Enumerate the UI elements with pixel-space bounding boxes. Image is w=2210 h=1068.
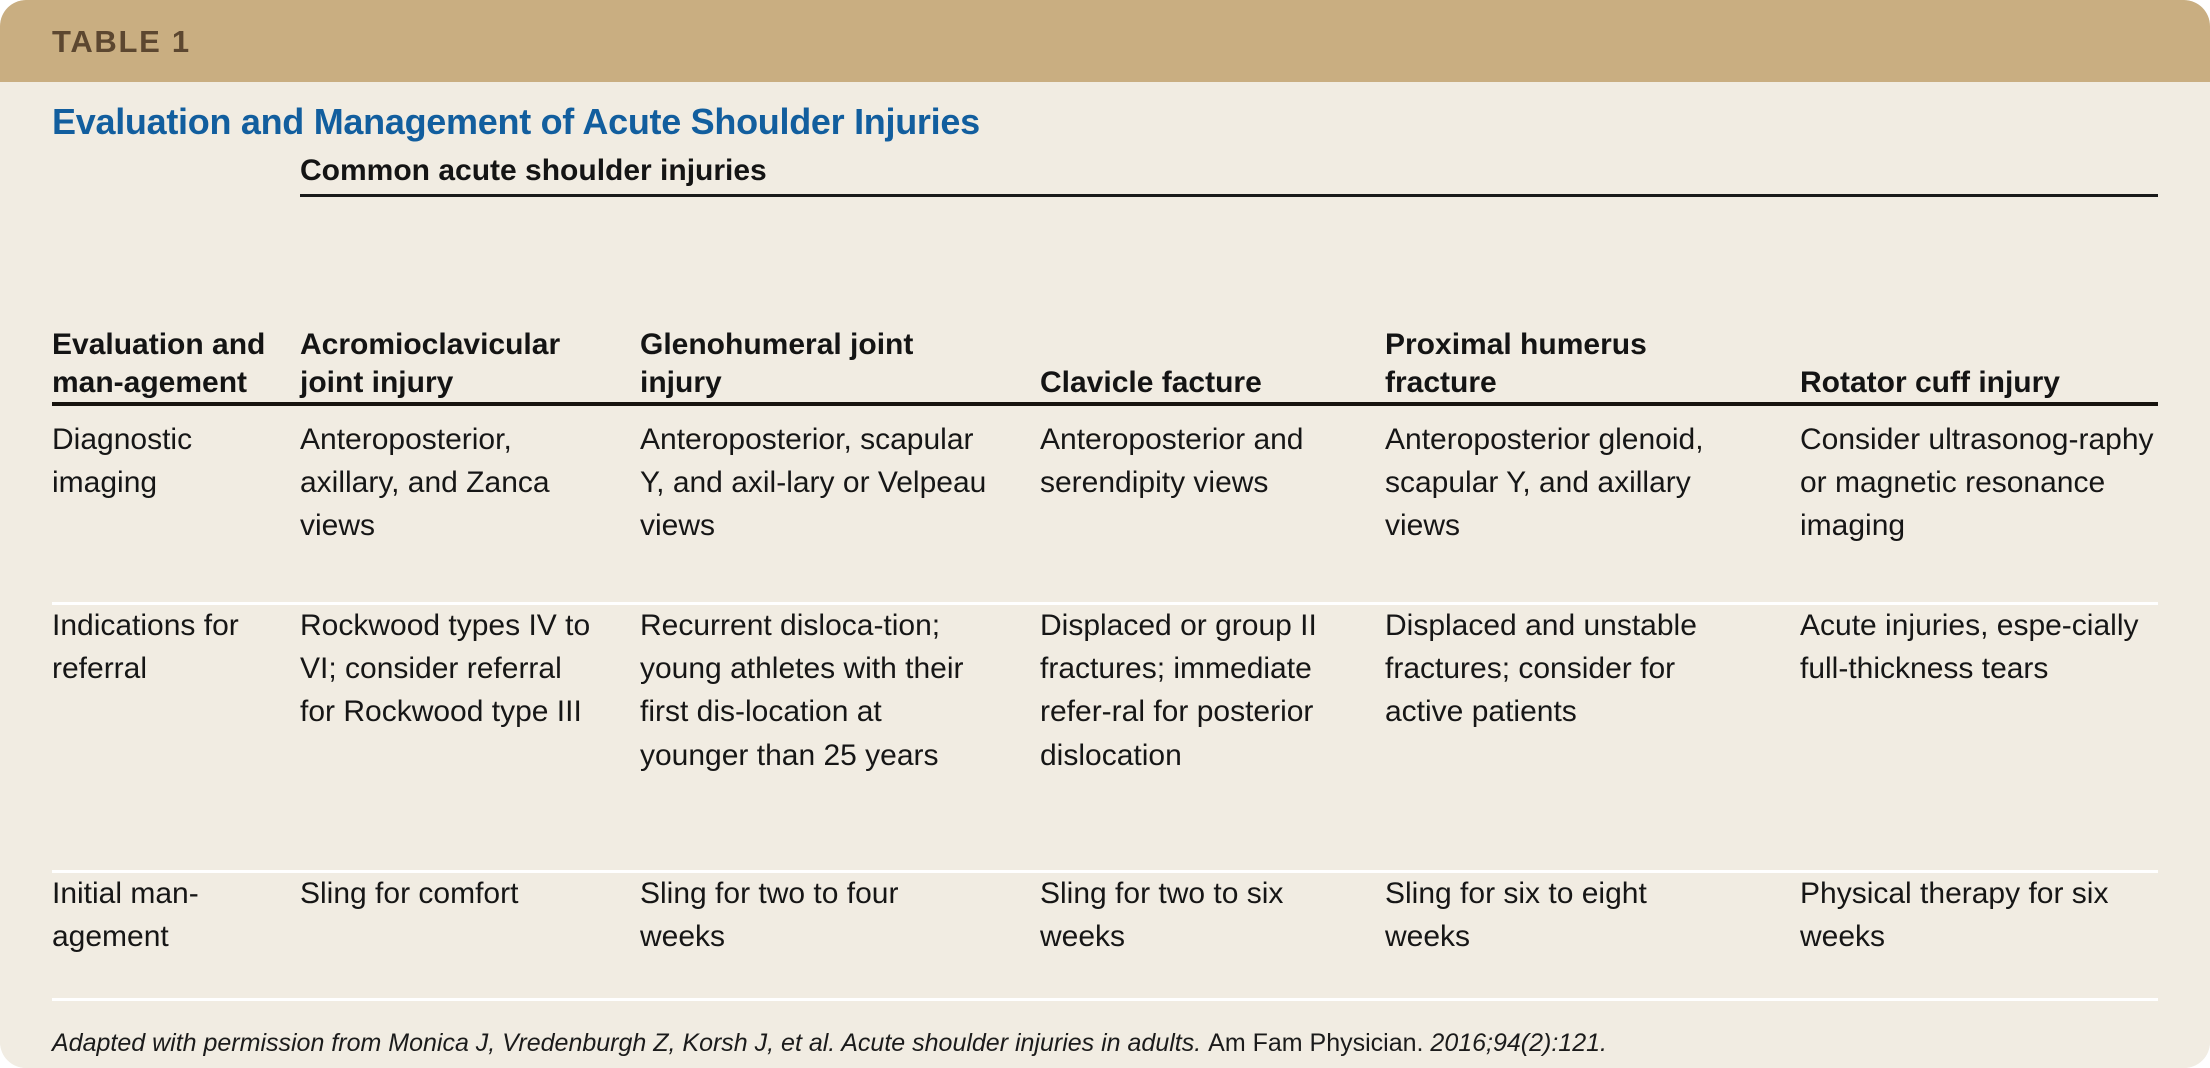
table-row: Diagnostic imagingAnteroposterior, axill… [0,418,2210,602]
row-header-cell: Initial man-agement [52,872,272,958]
table-cell: Displaced or group II fractures; immedia… [1040,604,1340,777]
table-cell: Anteroposterior, scapular Y, and axil-la… [640,418,990,548]
table-cell: Rockwood types IV to VI; consider referr… [300,604,600,734]
table-cell: Recurrent disloca-tion; young athletes w… [640,604,990,777]
footnote-part-3: 2016;94(2):121. [1423,1029,1606,1057]
column-header-rotator-cuff-injury: Rotator cuff injury [1800,364,2158,402]
table-cell: Physical therapy for six weeks [1800,872,2158,958]
table-cell: Acute injuries, espe-cially full-thickne… [1800,604,2158,690]
table-footnote: Adapted with permission from Monica J, V… [52,1028,1607,1058]
table-cell: Sling for two to four weeks [640,872,990,958]
spanner-rule [300,194,2158,197]
column-header-evaluation-and-management: Evaluation and man-agement [52,326,272,402]
row-separator-rule [52,998,2158,1001]
footnote-journal-name: Am Fam Physician. [1208,1029,1423,1057]
table-row: Indications for referralRockwood types I… [0,604,2210,870]
table-cell: Consider ultrasonog-raphy or magnetic re… [1800,418,2158,548]
spanner-header-label: Common acute shoulder injuries [300,154,767,188]
row-separator-rule [52,602,2158,605]
column-header-acromioclavicular-joint-injury: Acromioclavicular joint injury [300,326,600,402]
table-cell: Anteroposterior and serendipity views [1040,418,1340,504]
table-cell: Anteroposterior glenoid, scapular Y, and… [1385,418,1735,548]
column-header-glenohumeral-joint-injury: Glenohumeral joint injury [640,326,990,402]
table-body: Evaluation and Management of Acute Shoul… [0,82,2210,1068]
column-header-row: Evaluation and man-agement Acromioclavic… [0,208,2210,402]
table-card: TABLE 1 Evaluation and Management of Acu… [0,0,2210,1068]
row-header-cell: Diagnostic imaging [52,418,272,504]
header-bottom-rule [52,402,2158,406]
column-header-clavicle-facture: Clavicle facture [1040,364,1340,402]
table-header-band: TABLE 1 [0,0,2210,82]
table-cell: Anteroposterior, axillary, and Zanca vie… [300,418,600,548]
table-number-label: TABLE 1 [52,26,191,57]
table-cell: Displaced and unstable fractures; consid… [1385,604,1735,734]
table-cell: Sling for comfort [300,872,600,915]
table-cell: Sling for six to eight weeks [1385,872,1735,958]
row-separator-rule [52,870,2158,873]
table-row: Initial man-agementSling for comfortSlin… [0,872,2210,998]
table-title: Evaluation and Management of Acute Shoul… [52,101,980,143]
table-cell: Sling for two to six weeks [1040,872,1340,958]
row-header-cell: Indications for referral [52,604,272,690]
column-header-proximal-humerus-fracture: Proximal humerus fracture [1385,326,1735,402]
footnote-part-1: Adapted with permission from Monica J, V… [52,1029,1208,1057]
